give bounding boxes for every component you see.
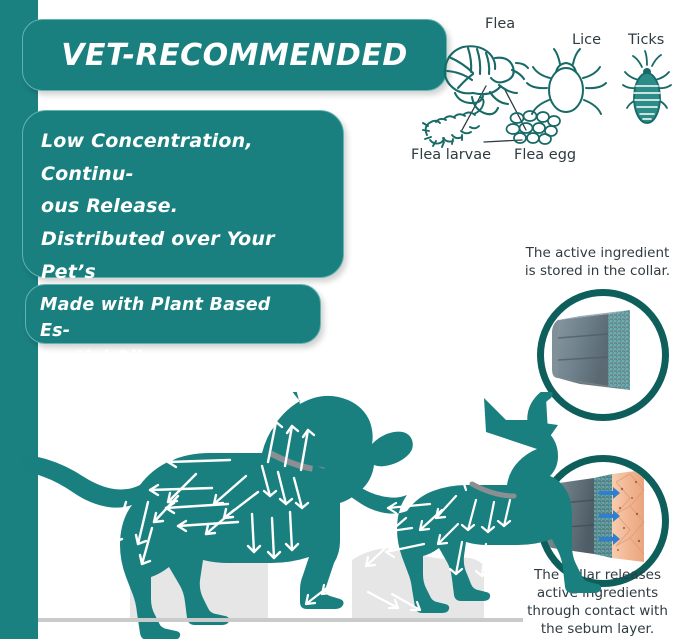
page-title: VET-RECOMMENDED xyxy=(61,38,407,73)
ticks-label: Ticks xyxy=(628,32,664,48)
claim-oils-text: Made with Plant Based Es- sential Oils. xyxy=(26,285,320,371)
vet-recommended-badge: VET-RECOMMENDED xyxy=(22,19,447,91)
flea-label: Flea xyxy=(485,16,515,32)
flea-egg-label: Flea egg xyxy=(514,147,576,163)
collar-storage-caption: The active ingredient is stored in the c… xyxy=(515,245,679,281)
claim-badge-release: Low Concentration, Continu- ous Release.… xyxy=(22,110,344,278)
claim-badge-oils: Made with Plant Based Es- sential Oils. xyxy=(25,284,321,344)
parasite-diagram xyxy=(400,30,679,150)
lice-label: Lice xyxy=(572,32,601,48)
pet-distribution-illustration xyxy=(0,392,679,639)
ground-line xyxy=(38,618,523,622)
flea-larvae-label: Flea larvae xyxy=(411,147,491,163)
infographic-page: VET-RECOMMENDED Low Concentration, Conti… xyxy=(0,0,679,639)
